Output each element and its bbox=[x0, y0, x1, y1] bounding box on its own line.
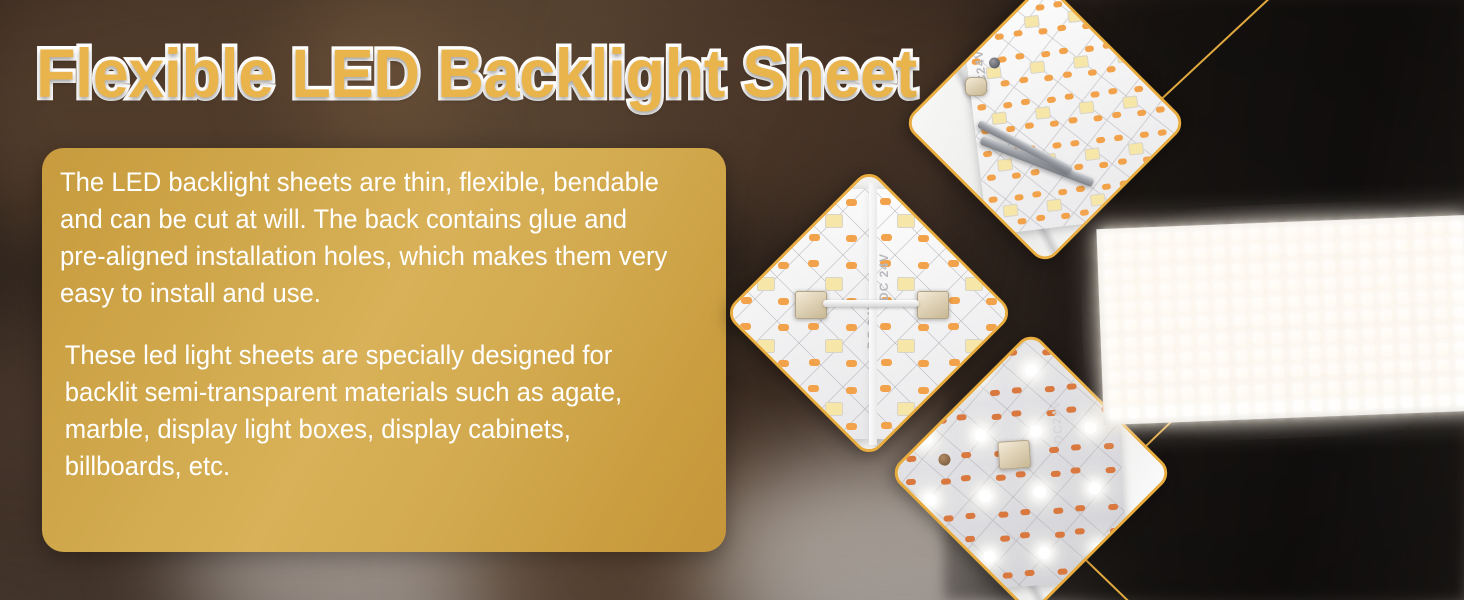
illuminated-led bbox=[1429, 236, 1448, 254]
solder-pad bbox=[1000, 80, 1010, 87]
illuminated-led bbox=[1137, 264, 1156, 282]
illuminated-led bbox=[1322, 309, 1341, 327]
solder-pad bbox=[808, 323, 819, 330]
illuminated-led bbox=[1141, 368, 1160, 386]
illuminated-led bbox=[1305, 344, 1324, 362]
illuminated-led bbox=[1396, 324, 1415, 342]
warm-led-chip bbox=[1078, 101, 1094, 115]
solder-pad bbox=[1011, 387, 1021, 394]
solder-pad bbox=[846, 199, 857, 206]
illuminated-led bbox=[1361, 377, 1380, 395]
illuminated-led bbox=[1410, 219, 1429, 237]
illuminated-led bbox=[1393, 255, 1412, 273]
solder-pad bbox=[983, 150, 993, 157]
illuminated-led bbox=[1284, 276, 1303, 294]
solder-pad bbox=[846, 387, 857, 394]
solder-pad bbox=[965, 513, 975, 520]
illuminated-led bbox=[1156, 264, 1175, 282]
solder-pad bbox=[1075, 505, 1085, 512]
illuminated-led bbox=[1451, 322, 1464, 340]
warm-led-chip bbox=[825, 214, 843, 228]
voltage-label: DC 24V bbox=[877, 253, 891, 301]
solder-pad bbox=[1105, 466, 1115, 473]
illuminated-led bbox=[1379, 359, 1398, 377]
illuminated-led bbox=[1340, 291, 1359, 309]
illuminated-led bbox=[1431, 288, 1450, 306]
solder-pad bbox=[846, 360, 857, 367]
illuminated-led bbox=[1123, 369, 1142, 387]
illuminated-led bbox=[1448, 235, 1464, 253]
illuminated-led bbox=[1246, 226, 1265, 244]
led-cell bbox=[1009, 41, 1058, 92]
led-cell bbox=[1015, 87, 1064, 138]
warm-led-chip bbox=[825, 277, 843, 291]
solder-pad bbox=[808, 385, 819, 392]
warm-led-chip bbox=[825, 402, 843, 416]
solder-pad bbox=[1118, 158, 1128, 165]
illuminated-led bbox=[1303, 275, 1322, 293]
illuminated-led bbox=[1344, 395, 1363, 413]
illuminated-led bbox=[1122, 334, 1141, 352]
illuminated-led bbox=[1392, 220, 1411, 238]
illuminated-led bbox=[1359, 325, 1378, 343]
illuminated-led bbox=[1415, 340, 1434, 358]
warm-led-chip bbox=[1122, 96, 1138, 110]
solder-pad bbox=[1058, 188, 1068, 195]
illuminated-led bbox=[1430, 253, 1449, 271]
illuminated-led bbox=[1029, 425, 1042, 438]
solder-pad bbox=[1020, 532, 1030, 539]
warm-led-chip bbox=[1046, 199, 1062, 213]
illuminated-led bbox=[1285, 293, 1304, 311]
illuminated-led bbox=[1266, 277, 1285, 295]
illuminated-led bbox=[1271, 398, 1290, 416]
illuminated-led bbox=[1435, 374, 1454, 392]
illuminated-led bbox=[1450, 287, 1464, 305]
illuminated-led bbox=[1338, 240, 1357, 258]
illuminated-led bbox=[1377, 307, 1396, 325]
illuminated-led bbox=[1412, 271, 1431, 289]
solder-pad bbox=[957, 414, 967, 421]
warm-led-chip bbox=[897, 402, 915, 416]
solder-pad bbox=[1053, 1, 1063, 8]
solder-pad bbox=[1036, 215, 1046, 222]
illuminated-led bbox=[1234, 399, 1253, 417]
solder-pad bbox=[998, 512, 1008, 519]
illuminated-led bbox=[1394, 272, 1413, 290]
solder-pad bbox=[918, 235, 929, 242]
illuminated-led bbox=[1179, 384, 1198, 402]
illuminated-led bbox=[1304, 310, 1323, 328]
solder-pad bbox=[1044, 386, 1054, 393]
description-paragraph-1: The LED backlight sheets are thin, flexi… bbox=[60, 164, 676, 312]
solder-pad bbox=[999, 535, 1009, 542]
solder-pad bbox=[1003, 102, 1013, 109]
illuminated-led bbox=[1173, 246, 1192, 264]
led-matrix bbox=[1099, 218, 1464, 422]
solder-pad bbox=[1017, 218, 1027, 225]
illuminated-led bbox=[924, 493, 937, 506]
illuminated-led bbox=[1194, 314, 1213, 332]
solder-pad bbox=[1103, 443, 1113, 450]
solder-pad bbox=[961, 452, 971, 459]
description-panel: The LED backlight sheets are thin, flexi… bbox=[42, 148, 726, 552]
illuminated-led bbox=[1324, 344, 1343, 362]
illuminated-led bbox=[1393, 237, 1412, 255]
illuminated-led bbox=[1229, 261, 1248, 279]
illuminated-led bbox=[1232, 347, 1251, 365]
page-title: Flexible LED Backlight Sheet bbox=[36, 34, 917, 113]
solder-pad bbox=[1156, 106, 1166, 113]
solder-pad bbox=[1063, 71, 1073, 78]
illuminated-led bbox=[1305, 327, 1324, 345]
solder-pad bbox=[1006, 126, 1016, 133]
illuminated-led bbox=[1228, 244, 1247, 262]
illuminated-led bbox=[983, 551, 996, 564]
illuminated-led bbox=[1138, 282, 1157, 300]
led-connector bbox=[997, 440, 1031, 470]
illuminated-led bbox=[1454, 391, 1464, 409]
solder-pad bbox=[846, 262, 857, 269]
solder-pad bbox=[989, 196, 999, 203]
illuminated-led bbox=[1339, 274, 1358, 292]
illuminated-led bbox=[1249, 312, 1268, 330]
illuminated-led bbox=[1157, 298, 1176, 316]
solder-pad bbox=[1114, 134, 1124, 141]
illuminated-led bbox=[1176, 315, 1195, 333]
solder-pad bbox=[880, 323, 891, 330]
illuminated-led bbox=[1106, 404, 1125, 422]
illuminated-led bbox=[1452, 339, 1464, 357]
solder-pad bbox=[778, 324, 789, 331]
illuminated-led bbox=[1302, 258, 1321, 276]
warm-led-chip bbox=[996, 158, 1012, 172]
illuminated-led bbox=[1283, 242, 1302, 260]
illuminated-led bbox=[1196, 366, 1215, 384]
illuminated-led bbox=[1119, 265, 1138, 283]
solder-pad bbox=[1041, 50, 1051, 57]
solder-pad bbox=[940, 478, 950, 485]
solder-pad bbox=[1158, 129, 1168, 136]
illuminated-led bbox=[1288, 380, 1307, 398]
led-cell bbox=[1015, 522, 1074, 587]
illuminated-led bbox=[1121, 317, 1140, 335]
illuminated-led bbox=[1380, 376, 1399, 394]
illuminated-led bbox=[1270, 380, 1289, 398]
illuminated-led bbox=[1449, 270, 1464, 288]
illuminated-led bbox=[1118, 231, 1137, 249]
led-cell bbox=[1026, 179, 1075, 230]
illuminated-led bbox=[1174, 263, 1193, 281]
illuminated-led bbox=[1215, 365, 1234, 383]
illuminated-led bbox=[1139, 316, 1158, 334]
illuminated-led bbox=[1433, 322, 1452, 340]
illuminated-led bbox=[1320, 257, 1339, 275]
illuminated-led bbox=[1434, 357, 1453, 375]
solder-pad bbox=[1070, 444, 1080, 451]
solder-pad bbox=[881, 359, 892, 366]
solder-pad bbox=[809, 234, 820, 241]
illuminated-led bbox=[1231, 330, 1250, 348]
illuminated-led bbox=[1306, 362, 1325, 380]
solder-pad bbox=[918, 324, 929, 331]
voltage-label: DC24V bbox=[1049, 400, 1066, 445]
illuminated-led bbox=[1038, 547, 1051, 560]
illuminated-led bbox=[1357, 273, 1376, 291]
illuminated-led bbox=[1356, 239, 1375, 257]
illuminated-led bbox=[1214, 348, 1233, 366]
solder-pad bbox=[1075, 528, 1085, 535]
solder-pad bbox=[808, 260, 819, 267]
solder-pad bbox=[906, 456, 916, 463]
illuminated-led bbox=[1142, 385, 1161, 403]
warm-led-chip bbox=[1127, 142, 1143, 156]
illuminated-led bbox=[1412, 254, 1431, 272]
solder-pad bbox=[778, 298, 789, 305]
solder-pad bbox=[991, 413, 1001, 420]
solder-pad bbox=[1068, 117, 1078, 124]
solder-pad bbox=[1019, 76, 1029, 83]
illuminated-led bbox=[1269, 346, 1288, 364]
solder-pad bbox=[1053, 508, 1063, 515]
illuminated-led bbox=[1361, 360, 1380, 378]
solder-pad bbox=[986, 324, 997, 331]
illuminated-led bbox=[1194, 297, 1213, 315]
illuminated-led bbox=[1102, 300, 1121, 318]
solder-pad bbox=[1016, 471, 1026, 478]
solder-pad bbox=[995, 474, 1005, 481]
illuminated-led bbox=[1450, 304, 1464, 322]
solder-pad bbox=[1071, 467, 1081, 474]
solder-pad bbox=[1054, 531, 1064, 538]
illuminated-led bbox=[1286, 311, 1305, 329]
illuminated-led bbox=[1376, 290, 1395, 308]
solder-pad bbox=[986, 298, 997, 305]
illuminated-led bbox=[1435, 391, 1454, 409]
solder-pad bbox=[1066, 383, 1076, 390]
warm-led-chip bbox=[757, 277, 775, 291]
warm-led-chip bbox=[1029, 60, 1045, 74]
solder-pad bbox=[1106, 66, 1116, 73]
illuminated-led bbox=[1104, 352, 1123, 370]
illuminated-led bbox=[1286, 328, 1305, 346]
illuminated-led bbox=[1343, 360, 1362, 378]
illuminated-led bbox=[1267, 311, 1286, 329]
illuminated-led bbox=[1120, 300, 1139, 318]
solder-pad bbox=[1025, 122, 1035, 129]
illuminated-led bbox=[1213, 331, 1232, 349]
solder-pad bbox=[1059, 47, 1069, 54]
illuminated-led bbox=[1307, 396, 1326, 414]
warm-led-chip bbox=[991, 112, 1007, 126]
solder-pad bbox=[918, 262, 929, 269]
illuminated-led bbox=[1269, 363, 1288, 381]
solder-pad bbox=[961, 475, 971, 482]
illuminated-led bbox=[1209, 227, 1228, 245]
solder-pad bbox=[1011, 172, 1021, 179]
solder-pad bbox=[1007, 350, 1017, 357]
illuminated-led bbox=[1414, 306, 1433, 324]
solder-pad bbox=[1024, 570, 1034, 577]
illuminated-led bbox=[1341, 309, 1360, 327]
illuminated-led bbox=[1233, 365, 1252, 383]
illuminated-led bbox=[1413, 288, 1432, 306]
illuminated-led bbox=[979, 490, 992, 503]
illuminated-led bbox=[1378, 342, 1397, 360]
illuminated-led bbox=[1099, 231, 1118, 249]
led-cell bbox=[1066, 457, 1125, 522]
illuminated-led bbox=[1192, 262, 1211, 280]
illuminated-led bbox=[1175, 298, 1194, 316]
illuminated-led bbox=[1267, 294, 1286, 312]
illuminated-led bbox=[1252, 381, 1271, 399]
illuminated-led bbox=[1378, 324, 1397, 342]
illuminated-led bbox=[1320, 240, 1339, 258]
solder-pad bbox=[1134, 86, 1144, 93]
illuminated-led bbox=[1229, 278, 1248, 296]
illuminated-led bbox=[1339, 257, 1358, 275]
illuminated-led bbox=[1248, 295, 1267, 313]
illuminated-led bbox=[1212, 296, 1231, 314]
illuminated-led bbox=[1227, 226, 1246, 244]
illuminated-led bbox=[1265, 242, 1284, 260]
illuminated-led bbox=[1105, 387, 1124, 405]
illuminated-led bbox=[1319, 223, 1338, 241]
description-paragraph-2: These led light sheets are specially des… bbox=[60, 337, 676, 485]
illuminated-led bbox=[1233, 382, 1252, 400]
warm-led-chip bbox=[1023, 14, 1039, 28]
illuminated-led bbox=[1025, 364, 1038, 377]
warm-led-chip bbox=[1084, 147, 1100, 161]
product-image-large-illuminated-led-backlight-panel[interactable] bbox=[1096, 215, 1464, 425]
illuminated-led bbox=[1358, 291, 1377, 309]
illuminated-led bbox=[1033, 486, 1046, 499]
solder-pad bbox=[1090, 91, 1100, 98]
illuminated-led bbox=[1432, 305, 1451, 323]
illuminated-led bbox=[1246, 243, 1265, 261]
illuminated-led bbox=[1357, 256, 1376, 274]
illuminated-led bbox=[1193, 280, 1212, 298]
solder-pad bbox=[1067, 407, 1077, 414]
solder-pad bbox=[994, 34, 1004, 41]
solder-pad bbox=[1108, 88, 1118, 95]
illuminated-led bbox=[1158, 316, 1177, 334]
solder-pad bbox=[1044, 74, 1054, 81]
illuminated-led bbox=[1374, 238, 1393, 256]
solder-pad bbox=[809, 359, 820, 366]
led-cell bbox=[801, 314, 869, 377]
illuminated-led bbox=[1103, 318, 1122, 336]
illuminated-led bbox=[1397, 341, 1416, 359]
illuminated-led bbox=[1141, 351, 1160, 369]
illuminated-led bbox=[1414, 323, 1433, 341]
illuminated-led bbox=[1395, 306, 1414, 324]
illuminated-led bbox=[1301, 224, 1320, 242]
illuminated-led bbox=[1179, 401, 1198, 419]
illuminated-led bbox=[1139, 299, 1158, 317]
warm-led-chip bbox=[897, 339, 915, 353]
illuminated-led bbox=[1105, 369, 1124, 387]
illuminated-led bbox=[1251, 364, 1270, 382]
warm-led-chip bbox=[897, 214, 915, 228]
illuminated-led bbox=[1178, 367, 1197, 385]
illuminated-led bbox=[1155, 247, 1174, 265]
solder-pad bbox=[948, 260, 959, 267]
solder-pad bbox=[1139, 132, 1149, 139]
illuminated-led bbox=[1375, 255, 1394, 273]
product-banner: Flexible LED Backlight Sheet The LED bac… bbox=[0, 0, 1464, 600]
warm-led-chip bbox=[897, 277, 915, 291]
solder-pad bbox=[1049, 120, 1059, 127]
illuminated-led bbox=[1397, 358, 1416, 376]
solder-pad bbox=[1057, 569, 1067, 576]
illuminated-led bbox=[1321, 275, 1340, 293]
solder-pad bbox=[1048, 447, 1058, 454]
solder-pad bbox=[1084, 45, 1094, 52]
solder-pad bbox=[1096, 137, 1106, 144]
illuminated-led bbox=[1100, 249, 1119, 267]
illuminated-led bbox=[1431, 271, 1450, 289]
led-cell bbox=[1053, 35, 1102, 86]
warm-led-chip bbox=[825, 339, 843, 353]
illuminated-led bbox=[1118, 248, 1137, 266]
warm-led-chip bbox=[1002, 204, 1018, 218]
warm-led-chip bbox=[1072, 55, 1088, 69]
illuminated-led bbox=[1247, 260, 1266, 278]
illuminated-led bbox=[1101, 283, 1120, 301]
illuminated-led bbox=[1289, 397, 1308, 415]
solder-pad bbox=[1013, 30, 1023, 37]
illuminated-led bbox=[1417, 392, 1436, 410]
illuminated-led bbox=[1250, 347, 1269, 365]
solder-pad bbox=[740, 323, 751, 330]
illuminated-led bbox=[1250, 329, 1269, 347]
warm-led-chip bbox=[965, 277, 983, 291]
illuminated-led bbox=[1120, 282, 1139, 300]
illuminated-led bbox=[1192, 245, 1211, 263]
illuminated-led bbox=[1177, 349, 1196, 367]
solder-pad bbox=[1032, 191, 1042, 198]
led-cell bbox=[1102, 76, 1151, 127]
illuminated-led bbox=[1380, 393, 1399, 411]
illuminated-led bbox=[1301, 241, 1320, 259]
led-cell bbox=[956, 465, 1015, 530]
solder-pad bbox=[1070, 139, 1080, 146]
illuminated-led bbox=[1398, 375, 1417, 393]
illuminated-led bbox=[1288, 362, 1307, 380]
solder-pad bbox=[1099, 161, 1109, 168]
led-cell bbox=[1058, 81, 1107, 132]
solder-pad bbox=[1074, 163, 1084, 170]
solder-pad bbox=[918, 360, 929, 367]
illuminated-led bbox=[1211, 262, 1230, 280]
illuminated-led bbox=[1324, 361, 1343, 379]
led-connector bbox=[917, 291, 949, 319]
illuminated-led bbox=[1158, 333, 1177, 351]
illuminated-led bbox=[1452, 356, 1464, 374]
board-gap bbox=[869, 183, 877, 445]
solder-pad bbox=[1002, 573, 1012, 580]
illuminated-led bbox=[1160, 385, 1179, 403]
illuminated-led bbox=[1084, 421, 1097, 434]
illuminated-led bbox=[1448, 253, 1464, 271]
illuminated-led bbox=[1195, 331, 1214, 349]
illuminated-led bbox=[1268, 329, 1287, 347]
solder-pad bbox=[1052, 142, 1062, 149]
solder-pad bbox=[1093, 115, 1103, 122]
solder-pad bbox=[778, 360, 789, 367]
warm-led-chip bbox=[1089, 193, 1105, 207]
